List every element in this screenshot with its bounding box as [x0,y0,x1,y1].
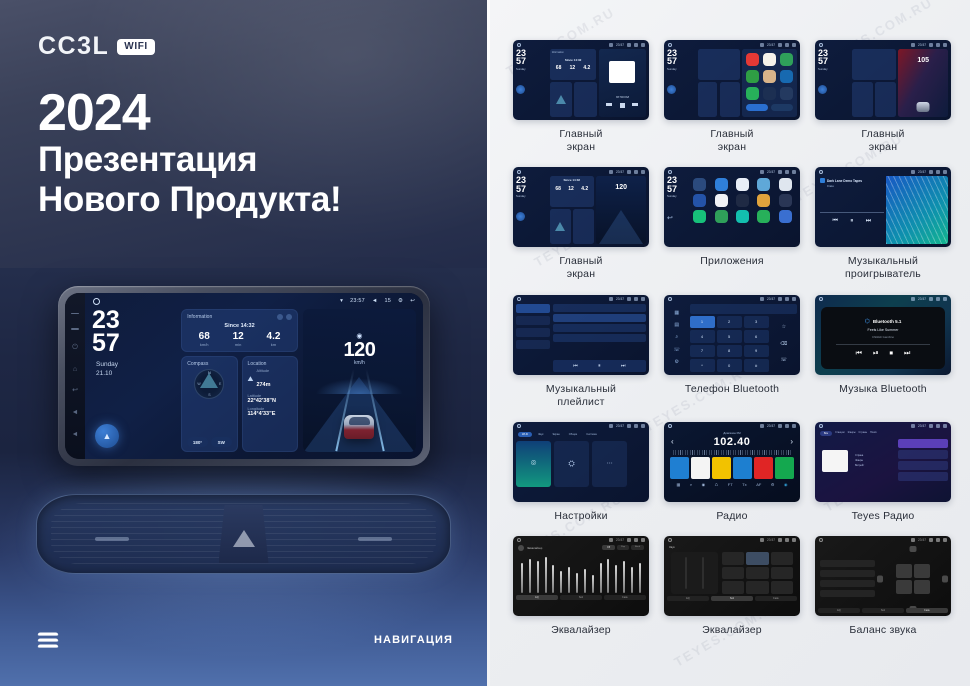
app-icon [736,178,749,191]
station-preset [670,457,689,479]
app-icon [763,87,776,100]
compass-n: N [208,371,211,375]
bt-title: Bluetooth 5.1 [873,319,902,324]
screenshot-gallery-panel: TEYES.COM.RU TEYES.COM.RU TEYES.COM.RU T… [487,0,970,686]
compass-direction: SW [211,437,232,447]
arrow-left-icon [877,575,883,582]
bt-music-panel: ⌬Bluetooth 5.1 Feels Like Summer Childis… [821,307,945,369]
dock-button [746,104,768,111]
clock-date: 21.10 [92,370,176,379]
stat-unit: min [233,342,244,347]
thumb-info-col: Information Since 14:32 68 12 4.2 [550,49,597,117]
compass-card[interactable]: Compass N S W E [181,356,237,452]
call-log-icon: ☏ [674,347,680,353]
preset-tile [771,552,793,565]
more-icon: ⋯ [592,441,627,487]
station-preset [754,457,773,479]
favorite-icon[interactable]: ☆ [782,324,786,330]
dial-key: 8 [717,345,742,358]
sidebar-item [516,316,550,325]
compass-cone [556,95,566,104]
gallery-item[interactable]: 23:57 23 57 Sunday [664,40,800,154]
compass-dial: N S W E [194,369,224,399]
progress-bar[interactable] [836,344,930,345]
air-vent-assembly [36,494,451,574]
home-circle-icon [668,43,672,47]
preset-stations[interactable] [667,457,797,479]
expand-icon[interactable] [286,314,292,320]
dialpad[interactable]: 1 2 3 4 5 6 7 8 9 * [690,304,798,372]
clock-column: 23 57 Sunday 21.10 ▲ [92,309,176,452]
navigation-arrow-icon[interactable] [516,85,525,94]
thumbnail-home-media[interactable]: 23:57 23 57 Sunday Information [513,40,649,120]
gallery-item[interactable]: 23:57 ⌬Bluetooth 5.1 Feels Like Summer C… [815,295,951,409]
preset-tile [746,581,768,594]
status-bar: ▾ 23:57 ◄ 15 ⚙ ↩ [85,293,423,309]
play-pause-icon: ⏯ [873,350,879,358]
speaker-icon [914,564,930,578]
prev-icon: ⏮ [832,218,837,225]
thumbnail-music-player[interactable]: 23:57 Dark Lane Demo Tapes Drake ⏮⏸⏭ [815,167,951,247]
eq-tabs[interactable]: EQSubFade [516,595,646,600]
thumb-drive-card: 120 [596,176,646,244]
menu-bar-icon[interactable] [71,328,79,330]
home-circle-icon [517,43,521,47]
playlist-sidebar[interactable] [516,304,550,372]
thumb-day: Sunday [667,195,690,199]
speed-unit: km/h [303,360,416,366]
refresh-icon[interactable] [277,314,283,320]
tab-item: Система [583,432,599,437]
home-circle-icon [668,170,672,174]
stat-item: 68 km/h [199,331,210,347]
gallery-item[interactable]: 23:57 [815,536,951,637]
thumb-stat: 4.2 [583,65,590,71]
app-icon [736,210,749,223]
call-icon[interactable]: ☏ [781,357,787,363]
car-3d-model [344,415,374,439]
station-row [898,439,948,448]
hazard-triangle-icon [233,530,255,547]
thumbnail-eq-simple[interactable]: 23:57 Звук [664,536,800,616]
transport-controls[interactable]: ⏮⏯⏹⏭ [856,350,911,358]
thumb-since: Since 14:32 [552,178,592,182]
thumbnail-playlist[interactable]: 23:57 [513,295,649,375]
home-icon[interactable]: ⌂ [71,366,79,374]
visualizer [886,176,948,244]
thumb-day: Sunday [667,68,695,72]
stat-item: 12 min [233,331,244,347]
longitude-value: 114°4'33"E [248,411,292,417]
wifi-icon: ⌾ [516,441,551,487]
gallery-item[interactable]: 23:57 Wi-Fi Звук Экран Общие Система ⌾ [513,422,649,523]
back-arrow-icon[interactable]: ↩ [410,298,415,304]
settings-tabs[interactable]: Wi-Fi Звук Экран Общие Система [516,431,646,438]
preset-row [820,570,875,577]
gallery-item[interactable]: 23:57 ВсеСтанцииЖанрыСтраныПоиск СтранаЖ… [815,422,951,523]
tab-active: Все [820,431,832,436]
gallery-item[interactable]: 23:57 Эквалайзер OffPopRock EQSubFade Эк… [513,536,649,637]
station-meta: СтранаЖанрыБитрейт [855,439,895,483]
thumbnail-eq-bands[interactable]: 23:57 Эквалайзер OffPopRock EQSubFade [513,536,649,616]
thumb-minutes: 57 [667,57,695,65]
prev-icon: ⏮ [573,363,578,369]
dial-key: 9 [744,345,769,358]
speaker-icon [914,580,930,594]
information-header: Information [187,314,292,320]
stop-icon: ⏹ [890,350,894,358]
gallery-item[interactable]: 23:57 ▦▤⌕☏⚙ 1 2 [664,295,800,409]
station-row [898,450,948,459]
stat-value: 12 [233,331,244,342]
stat-value: 4.2 [267,331,281,342]
next-icon: ⏭ [866,218,871,225]
dial-key: 2 [717,316,742,329]
thumb-drive-card: 105 [898,49,948,117]
thumb-info-title: Information [552,51,595,54]
product-logo: CC3L WIFI [38,32,155,61]
track-list[interactable]: ⏮⏸⏭ [553,304,646,372]
arrow-up-icon [909,546,916,552]
speed-value: 120 [303,340,416,360]
radio-frequency: 102.40 [714,436,751,448]
gallery-item[interactable]: 23:57 Диапазон FM ‹ 102.40 › [664,422,800,523]
gallery-row: 23:57 23 57 Sunday Information [513,40,948,154]
app-grid[interactable] [693,176,797,244]
information-actions[interactable] [277,314,292,320]
settings-cards[interactable]: ⌾ ⛭ ⋯ [516,441,646,487]
power-icon[interactable]: ⏻ [71,344,79,352]
preset-tile [722,567,744,580]
eq-band-sliders[interactable] [516,553,646,593]
app-icon [715,194,728,207]
mini-player[interactable]: ⏮⏸⏭ [553,360,646,372]
track-row [553,314,646,322]
app-icon [763,53,776,66]
dial-key: 1 [690,316,715,329]
album-art [822,450,848,472]
app-icon [780,53,793,66]
app-icon [693,178,706,191]
thumb-minutes: 57 [818,57,849,65]
home-circle-icon [517,538,521,542]
longitude-row: Longitude 114°4'33"E [248,407,292,417]
drive-view-card[interactable]: ◉ 120 km/h [303,309,416,452]
dial-key: 4 [690,330,715,343]
preset-row [820,560,875,567]
app-icon [757,210,770,223]
balance-pad[interactable] [879,547,946,611]
thumb-speed: 105 [898,57,948,64]
thumbnail-home-drive[interactable]: 23:57 23 57 Sunday Since 14:32 [513,167,649,247]
dial-key: 0 [717,359,742,372]
preset-button: Pop [617,545,629,550]
stat-value: 68 [199,331,210,342]
album-art [609,61,635,83]
gallery-item[interactable]: 23:57 23 57 Sunday [815,40,951,154]
navigation-arrow-icon[interactable] [667,85,676,94]
pause-icon: ⏸ [598,363,601,369]
gallery-item[interactable]: 23:57 Звук [664,536,800,637]
app-icon [757,194,770,207]
track-title: Dark Lane Demo Tapes [827,179,862,183]
thumb-stat: 68 [555,186,561,192]
stat-unit: km/h [199,342,210,347]
thumbnail-apps[interactable]: 23:57 23 57 Sunday ↩ [664,167,800,247]
mountain-icon: ⛰ [248,376,254,384]
arrow-right-icon [942,575,948,582]
back-icon[interactable]: ↩ [667,214,690,222]
volume-icon[interactable]: ◄ [372,298,378,304]
logo-text: CC3L [38,32,109,61]
gallery-item[interactable]: 23:57 23 57 Sunday Since 14:32 [513,167,649,281]
sidebar-item [516,340,550,349]
thumb-stat: 4.2 [581,186,588,192]
app-icon [746,70,759,83]
gallery-item[interactable]: 23:57 23 57 Sunday ↩ [664,167,800,281]
compass-s: S [208,393,210,397]
compass-degrees: 180° [187,437,208,447]
latitude-value: 22°42'38"N [248,398,292,404]
car-3d-model [615,230,627,239]
latitude-row: Latitude 22°42'38"N [248,394,292,404]
eq-title: Звук [667,545,797,549]
radio-band: Диапазон FM [667,431,797,435]
gallery-item[interactable]: 23:57 Dark Lane Demo Tapes Drake ⏮⏸⏭ [815,167,951,281]
preset-button: Off [602,545,615,550]
sidebar-item [516,304,550,313]
app-icon [779,194,792,207]
gallery-row: 23:57 23 57 Sunday Since 14:32 [513,167,948,281]
home-circle-icon[interactable] [93,298,100,305]
information-stats: 68 km/h 12 min 4.2 [187,331,292,347]
backspace-icon[interactable]: ⌫ [780,341,787,347]
dial-key: 5 [717,330,742,343]
head-unit-screen[interactable]: ⏻ ⌂ ↩ ◄ ◄ ▾ 23:57 ◄ 15 [65,293,423,459]
hero-headline-line1: Презентация [38,140,341,180]
transport-controls[interactable]: ⏮⏸⏭ [820,218,884,225]
thumbnail-teyes-radio[interactable]: 23:57 ВсеСтанцииЖанрыСтраныПоиск СтранаЖ… [815,422,951,502]
information-card[interactable]: Information Since 14:32 [181,309,298,352]
preset-tile [771,581,793,594]
prev-icon: ⏮ [856,350,862,358]
home-circle-icon [819,170,823,174]
information-since: Since 14:32 [187,323,292,329]
station-preset [775,457,794,479]
volume-up-icon[interactable]: ◄ [71,431,79,439]
car-3d-model [917,102,930,112]
station-name: 97.50 FM [599,95,646,99]
home-circle-icon [819,43,823,47]
chevron-left-icon[interactable]: ‹ [671,437,674,446]
navigation-arrow-icon[interactable] [818,85,827,94]
compass-location-row: Compass N S W E [181,356,298,452]
station-list[interactable] [898,439,948,483]
thumbnail-balance[interactable]: 23:57 [815,536,951,616]
eq-header: Эквалайзер OffPopRock [516,545,646,551]
gallery-row: 23:57 Wi-Fi Звук Экран Общие Система ⌾ [513,422,948,523]
app-icon [746,53,759,66]
hero-panel: CC3L WIFI 2024 Презентация Нового Продук… [0,0,487,686]
menu-bar-icon[interactable] [71,313,79,315]
track-row [553,334,646,342]
preset-row [820,580,875,587]
app-icon [763,70,776,83]
stat-item: 4.2 km [267,331,281,347]
bt-track: Feels Like Summer [868,328,899,332]
compass-cone [200,373,218,388]
pause-icon: ⏸ [850,218,853,225]
compass-title: Compass [187,361,231,367]
presentation-slide: CC3L WIFI 2024 Презентация Нового Продук… [0,0,970,686]
app-icon [715,210,728,223]
speaker-icon [896,580,912,594]
stat-unit: km [267,342,281,347]
location-card[interactable]: Location ⛰ Altitude 274m [242,356,298,452]
navigation-arrow-icon[interactable]: ▲ [95,424,119,448]
information-title: Information [187,314,212,320]
thumb-day: Sunday [516,68,547,72]
balance-presets[interactable] [820,547,875,611]
dial-key: 6 [744,330,769,343]
preset-tile [746,552,768,565]
thumbnail-bt-music[interactable]: 23:57 ⌬Bluetooth 5.1 Feels Like Summer C… [815,295,951,375]
clock-minutes: 57 [92,332,176,355]
dialpad-icon: ▦ [674,310,679,316]
hazard-button[interactable] [219,505,269,563]
thumbnail-settings[interactable]: 23:57 Wi-Fi Звук Экран Общие Система ⌾ [513,422,649,502]
thumb-since: Since 14:32 [552,58,595,62]
app-icon [757,178,770,191]
thumb-status-bar: 23:57 [513,40,649,49]
dock-button [771,104,793,111]
dashboard-illustration: ⏻ ⌂ ↩ ◄ ◄ ▾ 23:57 ◄ 15 [0,268,487,686]
status-time: 23:57 [350,298,365,304]
head-unit-ui: ▾ 23:57 ◄ 15 ⚙ ↩ 23 57 [85,293,423,459]
navigation-arrow-icon[interactable] [516,212,525,221]
progress-bar[interactable] [820,212,884,213]
search-icon: ⌕ [675,334,678,340]
radio-toolbar[interactable]: ▦⌕◉♺FTTxAF⚙◉ [667,482,797,487]
thumb-minutes: 57 [516,57,547,65]
home-circle-icon [668,538,672,542]
eq-tabs[interactable]: EQSubFade [818,608,948,613]
station-preset [691,457,710,479]
thumbnail-home-drive-red[interactable]: 23:57 23 57 Sunday [815,40,951,120]
thumbnail-radio[interactable]: 23:57 Диапазон FM ‹ 102.40 › [664,422,800,502]
thumb-location-card [574,82,596,117]
station-row [898,472,948,481]
wifi-icon: ▾ [340,298,343,304]
thumb-media-card: 97.50 FM [599,49,646,117]
bluetooth-icon: ⌬ [865,318,870,325]
dial-key: * [690,359,715,372]
next-icon: ⏭ [621,363,626,369]
dial-key: 3 [744,316,769,329]
home-circle-icon [517,424,521,428]
gallery-caption: Главныйэкран [513,128,649,154]
compass-w: W [197,382,200,386]
phone-sidebar[interactable]: ▦▤⌕☏⚙ [667,304,687,372]
tuning-scale[interactable] [673,450,791,455]
clock-day: Sunday [92,361,176,370]
gallery-row: 23:57 Эквалайзер OffPopRock EQSubFade Эк… [513,536,948,637]
eq-preset-grid[interactable] [722,552,793,594]
app-icon [693,210,706,223]
chevron-right-icon[interactable]: › [790,437,793,446]
altitude-label: Altitude [256,369,270,373]
gallery-row: 23:57 [513,295,948,409]
status-bar-right: ▾ 23:57 ◄ 15 ⚙ ↩ [340,298,415,304]
app-icon [779,210,792,223]
teyes-tabs[interactable]: ВсеСтанцииЖанрыСтраныПоиск [818,431,948,436]
altitude-row: ⛰ Altitude 274m [248,369,292,391]
vent-knob-right[interactable] [358,537,392,541]
sidebar-item [516,328,550,337]
info-column: Information Since 14:32 [181,309,298,452]
home-circle-icon [819,538,823,542]
preset-row [820,590,875,597]
bt-artist: Childish Gambino [872,335,894,339]
thumb-speed: 120 [596,184,646,191]
preset-button: Rock [631,545,644,550]
eq-dual-sliders[interactable] [671,552,718,594]
eq-icon [518,545,524,551]
gear-icon[interactable]: ⚙ [398,298,403,304]
eq-tabs[interactable]: EQSubFade [667,596,797,601]
track-artist: Drake [827,185,884,188]
station-preset [733,457,752,479]
preset-tile [771,567,793,580]
back-icon[interactable]: ↩ [71,387,79,395]
home-circle-icon [668,297,672,301]
side-button-strip[interactable]: ⏻ ⌂ ↩ ◄ ◄ [65,293,85,459]
thumbnail-home-apps[interactable]: 23:57 23 57 Sunday [664,40,800,120]
home-circle-icon [517,297,521,301]
tab-item: Экран [549,432,562,437]
head-unit-body: 23 57 Sunday 21.10 ▲ Information [92,309,416,452]
track-row [553,304,646,312]
thumb-stat: 12 [570,65,576,71]
gallery-item[interactable]: 23:57 23 57 Sunday Information [513,40,649,154]
layers-icon [38,632,58,648]
thumbnail-bt-phone[interactable]: 23:57 ▦▤⌕☏⚙ 1 2 [664,295,800,375]
volume-down-icon[interactable]: ◄ [71,409,79,417]
home-circle-icon [819,424,823,428]
hero-footer: НАВИГАЦИЯ [38,632,453,648]
thumb-app-drawer[interactable] [742,49,797,117]
location-title: Location [248,361,292,367]
app-icon [780,87,793,100]
station-preset [712,457,731,479]
next-icon: ⏭ [904,350,910,358]
speed-readout: ◉ 120 km/h [303,332,416,366]
thumb-day: Sunday [516,195,547,199]
thumb-stat: 12 [568,186,574,192]
home-circle-icon [517,170,521,174]
panel-divider [487,0,490,686]
vent-knob-left[interactable] [95,537,129,541]
app-icon [693,194,706,207]
preset-tile [722,581,744,594]
gallery-item[interactable]: 23:57 [513,295,649,409]
tab-wifi: Wi-Fi [518,432,532,437]
app-icon [780,70,793,83]
thumb-content: 23 57 Sunday Information Since 14:32 [516,49,646,117]
preset-tile [746,567,768,580]
speaker-icon [896,564,912,578]
footer-label: НАВИГАЦИЯ [374,634,453,646]
